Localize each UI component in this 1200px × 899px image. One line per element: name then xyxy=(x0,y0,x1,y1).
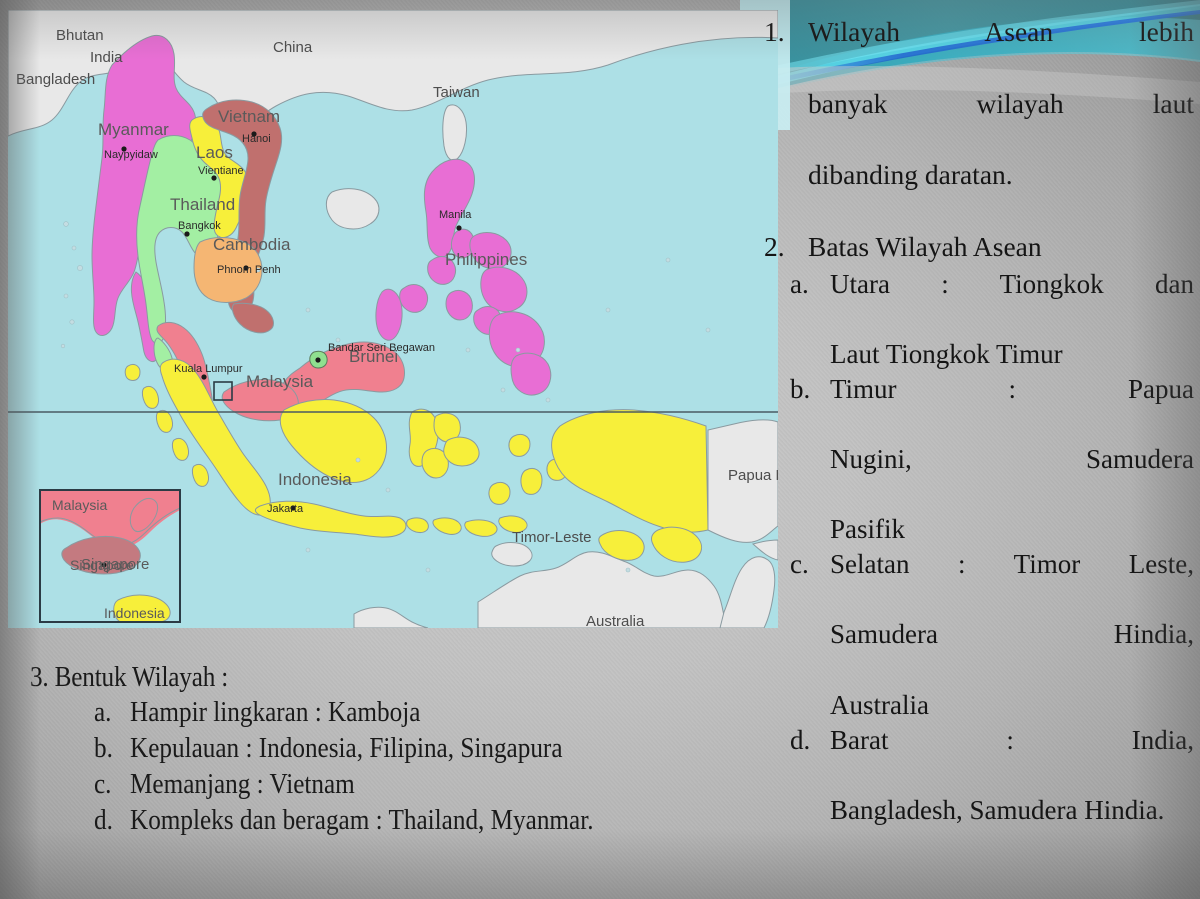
list-item-2[interactable]: 2. Batas Wilayah Asean xyxy=(758,229,1194,265)
map-label-manila: Manila xyxy=(439,209,472,221)
sub-line: Samudera Hindia. xyxy=(969,795,1164,825)
bottom-text-d: Kompleks dan beragam : Thailand, Myanmar… xyxy=(130,803,783,839)
map-label-bhutan: Bhutan xyxy=(56,27,104,44)
list-marker-1: 1. xyxy=(758,14,808,193)
map-label-bandar-seri-begawan: Bandar Seri Begawan xyxy=(328,342,435,354)
list-item-1[interactable]: 1. Wilayah Asean lebih banyak wilayah la… xyxy=(758,14,1194,193)
map-label-thailand: Thailand xyxy=(170,195,235,214)
bottom-text-a: Hampir lingkaran : Kamboja xyxy=(130,695,783,731)
list-line: Wilayah Asean lebih xyxy=(808,14,1194,86)
map-label-jakarta: Jakarta xyxy=(267,503,304,515)
map-label-cambodia: Cambodia xyxy=(213,235,291,254)
asean-map[interactable]: BhutanIndiaBangladeshChinaTaiwanMyanmarN… xyxy=(8,10,778,628)
list-line: Batas Wilayah Asean xyxy=(808,231,1042,262)
inset-label-malaysia: Malaysia xyxy=(52,497,107,513)
map-label-taiwan: Taiwan xyxy=(433,84,480,101)
map-label-china: China xyxy=(273,39,313,56)
list-text-1: Wilayah Asean lebih banyak wilayah laut … xyxy=(808,14,1194,193)
bottom-item-c[interactable]: c. Memanjang : Vietnam xyxy=(94,767,783,803)
bottom-marker-a: a. xyxy=(94,695,130,731)
map-label-india: India xyxy=(90,49,123,66)
list-text-2: Batas Wilayah Asean xyxy=(808,229,1194,265)
bottom-item-d[interactable]: d. Kompleks dan beragam : Thailand, Myan… xyxy=(94,803,783,839)
asean-map-svg: BhutanIndiaBangladeshChinaTaiwanMyanmarN… xyxy=(8,10,778,628)
bottom-text-column: 3. Bentuk Wilayah : a. Hampir lingkaran … xyxy=(30,660,860,839)
bottom-text-b: Kepulauan : Indonesia, Filipina, Singapu… xyxy=(130,731,783,767)
map-label-timor-leste: Timor-Leste xyxy=(512,529,591,546)
bottom-marker-b: b. xyxy=(94,731,130,767)
bottom-heading: 3. Bentuk Wilayah : xyxy=(30,660,777,695)
sub-line: Selatan : Timor Leste, xyxy=(830,547,1194,617)
bottom-marker-d: d. xyxy=(94,803,130,839)
sub-line: Pasifik xyxy=(830,514,905,544)
sub-line: Utara : Tiongkok dan xyxy=(830,267,1194,337)
map-label-hanoi: Hanoi xyxy=(242,133,271,145)
sub-line: Laut Tiongkok Timur xyxy=(830,339,1063,369)
map-label-laos: Laos xyxy=(196,143,233,162)
map-label-bangladesh: Bangladesh xyxy=(16,71,95,88)
sub-item-2a[interactable]: a. Utara : Tiongkok dan Laut Tiongkok Ti… xyxy=(758,267,1194,372)
bottom-item-b[interactable]: b. Kepulauan : Indonesia, Filipina, Sing… xyxy=(94,731,783,767)
sub-text-c: Selatan : Timor Leste, Samudera Hindia, … xyxy=(830,547,1194,722)
map-label-australia: Australia xyxy=(586,613,645,628)
list-line: dibanding daratan. xyxy=(808,159,1013,190)
sub-item-2b[interactable]: b. Timur : Papua Nugini, Samudera Pasifi… xyxy=(758,372,1194,547)
map-label-phnom-penh: Phnom Penh xyxy=(217,264,281,276)
sub-line: Samudera Hindia, xyxy=(830,617,1194,687)
map-label-myanmar: Myanmar xyxy=(98,120,169,139)
list-line: banyak wilayah laut xyxy=(808,86,1194,158)
sub-text-a: Utara : Tiongkok dan Laut Tiongkok Timur xyxy=(830,267,1194,372)
inset-label-indonesia: Indonesia xyxy=(104,605,165,621)
inset-label-singapore: Singapore xyxy=(70,557,134,573)
sub-line: Barat : India, xyxy=(830,723,1194,793)
map-label-bangkok: Bangkok xyxy=(178,220,221,232)
bottom-marker-c: c. xyxy=(94,767,130,803)
paragraph-spacer xyxy=(758,195,1194,229)
sub-line: Nugini, Samudera xyxy=(830,442,1194,512)
sub-line: Timur : Papua xyxy=(830,372,1194,442)
map-label-vientiane: Vientiane xyxy=(198,165,244,177)
map-label-indonesia: Indonesia xyxy=(278,470,352,489)
sub-text-b: Timur : Papua Nugini, Samudera Pasifik xyxy=(830,372,1194,547)
map-label-malaysia: Malaysia xyxy=(246,372,314,391)
bottom-text-c: Memanjang : Vietnam xyxy=(130,767,783,803)
map-label-vietnam: Vietnam xyxy=(218,107,280,126)
map-label-philippines: Philippines xyxy=(445,250,527,269)
map-label-naypyidaw: Naypyidaw xyxy=(104,149,158,161)
slide-canvas: BhutanIndiaBangladeshChinaTaiwanMyanmarN… xyxy=(0,0,1200,899)
map-label-kuala-lumpur: Kuala Lumpur xyxy=(174,363,243,375)
sub-marker-a: a. xyxy=(758,267,830,372)
sub-text-d: Barat : India, Bangladesh, Samudera Hind… xyxy=(830,723,1194,828)
list-marker-2: 2. xyxy=(758,229,808,265)
bottom-item-a[interactable]: a. Hampir lingkaran : Kamboja xyxy=(94,695,783,731)
sub-marker-b: b. xyxy=(758,372,830,547)
